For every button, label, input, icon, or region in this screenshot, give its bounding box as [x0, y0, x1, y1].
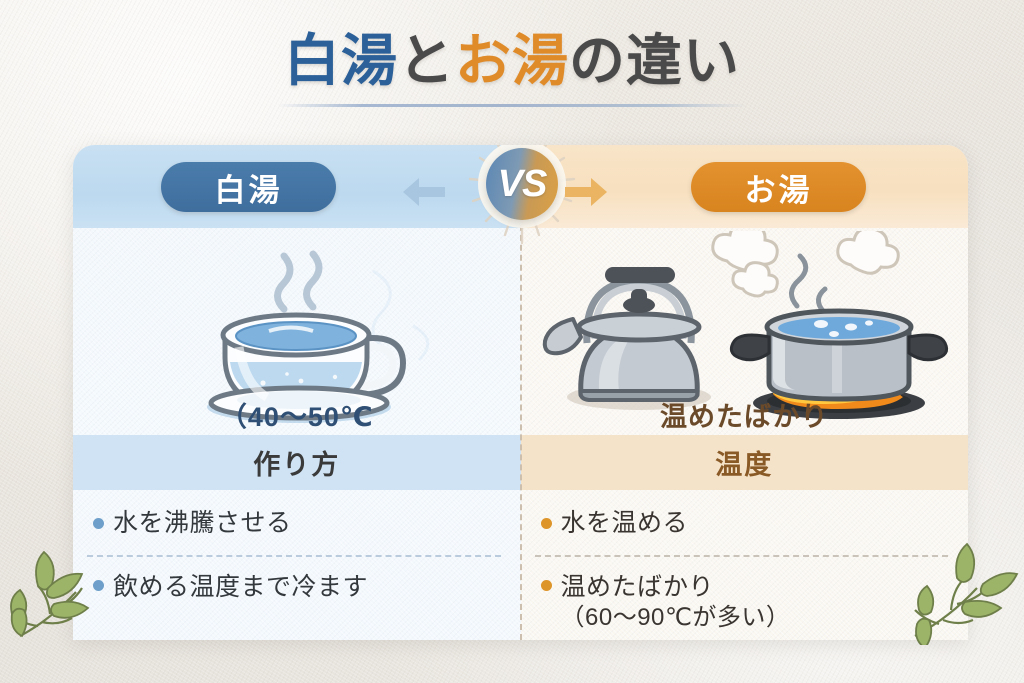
page-title: 白湯とお湯の違い: [0, 30, 1024, 107]
versus-cluster: VS: [447, 145, 597, 248]
left-section-band: 作り方: [73, 435, 521, 490]
list-item-text: 温めたばかり （60〜90℃が多い）: [561, 571, 791, 634]
versus-circle: VS: [486, 148, 558, 220]
right-bullet-list: 水を温める 温めたばかり （60〜90℃が多い）: [521, 493, 969, 640]
right-caption: 温めたばかり: [521, 395, 969, 434]
title-part-oyu: お湯: [455, 29, 569, 92]
right-section-label: 温度: [521, 435, 969, 490]
list-item-main: 温めたばかり: [561, 573, 715, 601]
list-item-text: 水を沸騰させる: [113, 507, 292, 539]
arrow-left-icon: [401, 176, 447, 208]
title-part-nochigai: の違い: [569, 29, 740, 92]
bullet-dot-icon: [541, 580, 552, 591]
right-section-band: 温度: [521, 435, 969, 490]
list-item-subtext: （60〜90℃が多い）: [561, 603, 791, 634]
left-bullet-list: 水を沸騰させる 飲める温度まで冷ます: [73, 493, 521, 640]
bullet-dot-icon: [93, 518, 104, 529]
versus-label: VS: [498, 165, 547, 203]
list-item: 水を沸騰させる: [73, 493, 521, 555]
left-section-label: 作り方: [73, 435, 521, 490]
list-item: 水を温める: [521, 493, 969, 555]
list-item: 飲める温度まで冷ます: [73, 555, 521, 617]
list-item-text: 水を温める: [561, 507, 689, 539]
title-part-shirayu: 白湯: [284, 29, 398, 92]
arrow-right-icon: [563, 176, 609, 208]
comparison-card: （40〜50℃ 温めたばかり 作り方 温度 水を沸騰させる 飲める温度まで冷ます…: [73, 145, 968, 640]
title-underline: [277, 104, 747, 107]
left-caption: （40〜50℃: [73, 395, 521, 434]
leaf-sprig-icon: [6, 540, 124, 645]
bullet-dot-icon: [541, 518, 552, 529]
title-part-to: と: [398, 29, 455, 92]
right-badge: お湯: [691, 162, 866, 212]
leaf-sprig-icon: [905, 540, 1023, 645]
list-item-text: 飲める温度まで冷ます: [113, 571, 368, 603]
left-badge: 白湯: [161, 162, 336, 212]
list-item: 温めたばかり （60〜90℃が多い）: [521, 555, 969, 617]
